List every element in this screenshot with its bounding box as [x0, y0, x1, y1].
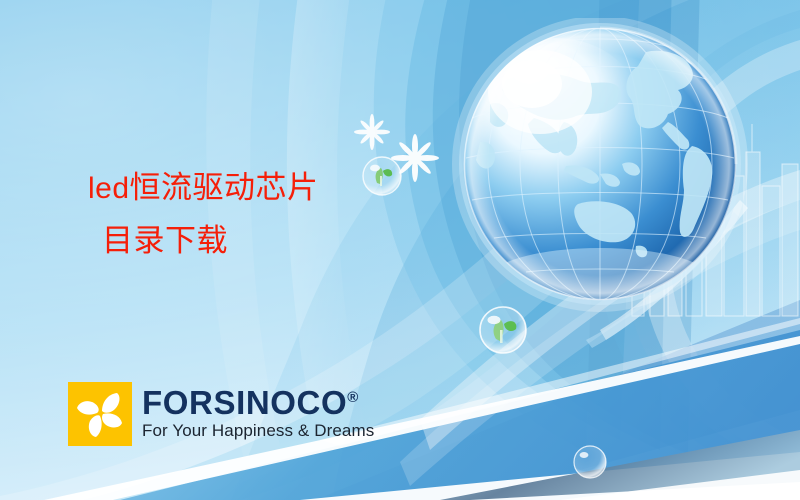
- page-title: led恒流驱动芯片 目录下载: [88, 162, 418, 268]
- registered-trademark-icon: ®: [347, 389, 358, 406]
- promo-banner: led恒流驱动芯片 目录下载 FORSINOCO® For Your Happ: [0, 0, 800, 500]
- four-petal-pinwheel-icon: [68, 382, 132, 446]
- page-title-cjk: 恒流驱动芯片: [130, 170, 319, 206]
- page-title-line-2: 目录下载: [88, 215, 418, 268]
- globe-icon: [450, 18, 750, 318]
- logo-wordmark-text: FORSINOCO: [142, 384, 347, 421]
- page-title-line-1: led恒流驱动芯片: [88, 162, 418, 215]
- bubble-with-sprout-icon: [480, 307, 526, 353]
- brand-logo[interactable]: FORSINOCO® For Your Happiness & Dreams: [68, 382, 374, 446]
- logo-tagline: For Your Happiness & Dreams: [142, 421, 374, 441]
- bubble-icon: [574, 446, 606, 478]
- logo-text-block: FORSINOCO® For Your Happiness & Dreams: [142, 382, 374, 441]
- logo-wordmark: FORSINOCO®: [142, 386, 374, 420]
- page-title-latin: led: [88, 172, 130, 205]
